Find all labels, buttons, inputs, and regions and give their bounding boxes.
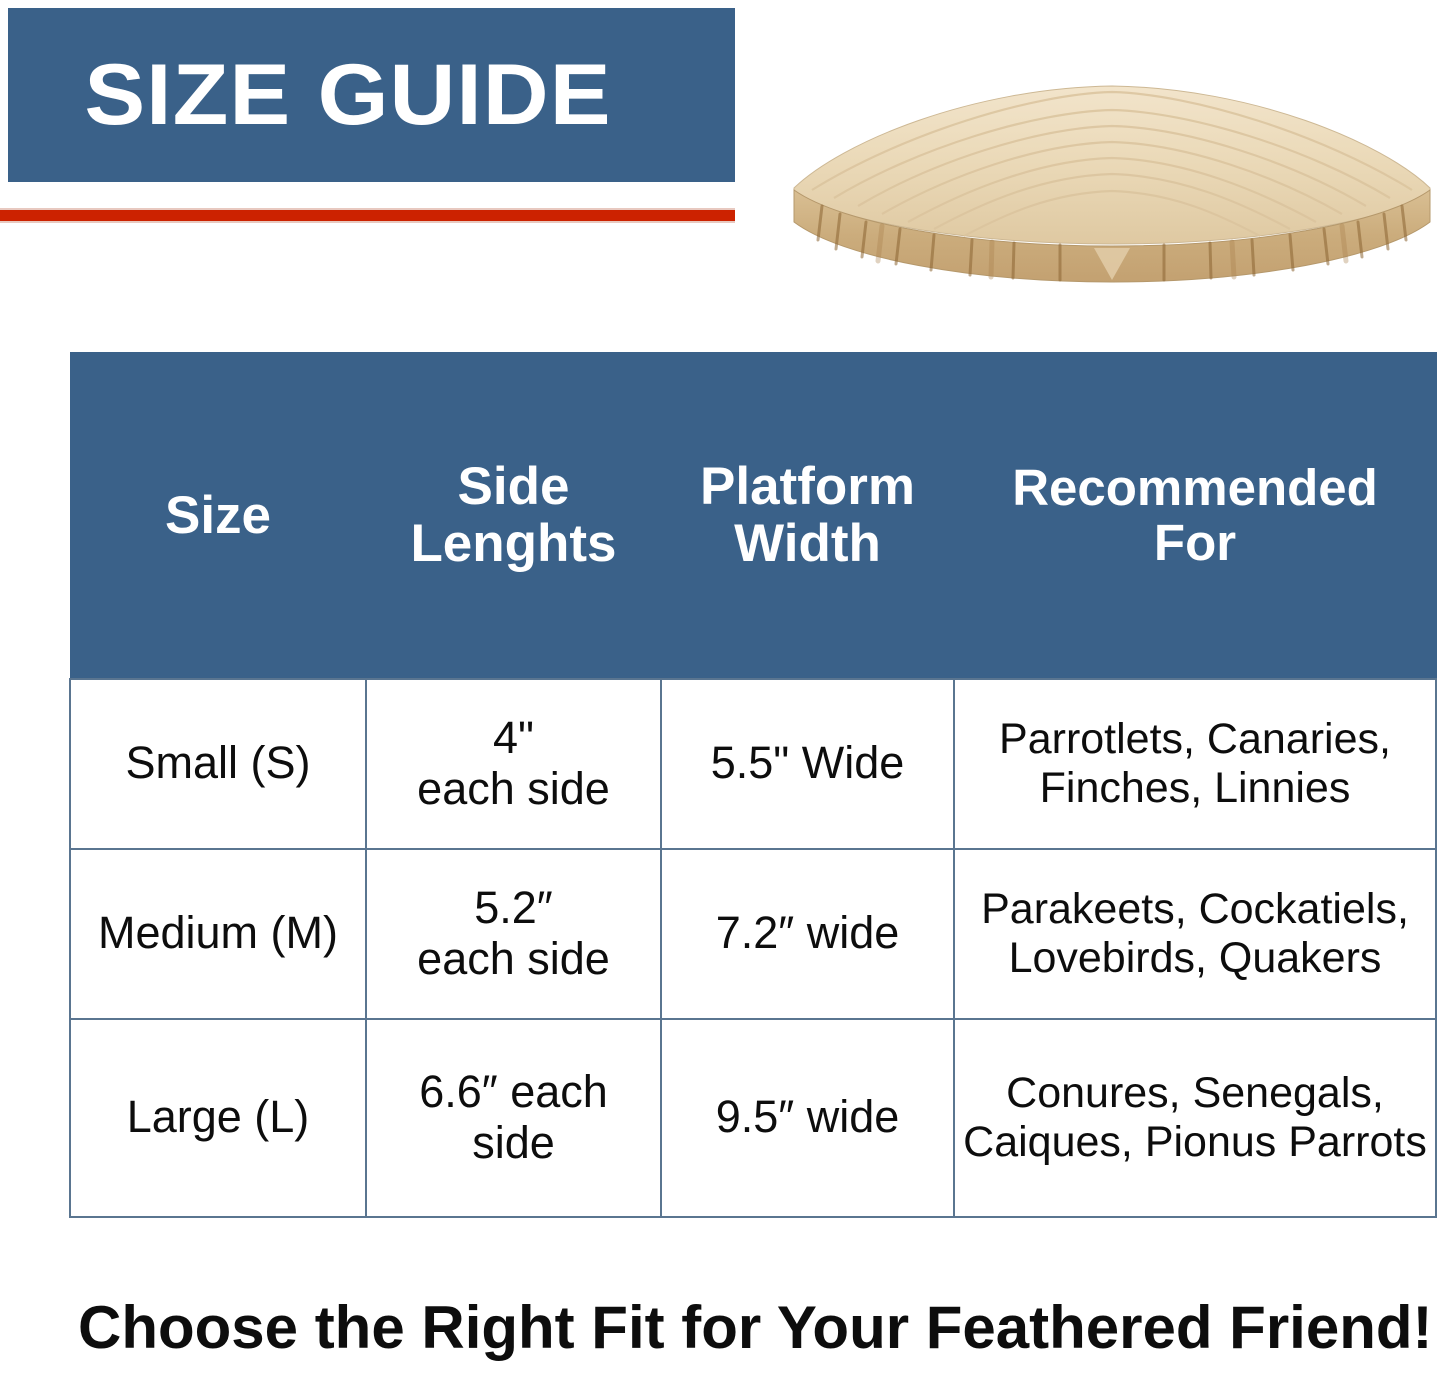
corner-shelf-product-image [782, 72, 1442, 302]
footer-tagline: Choose the Right Fit for Your Feathered … [78, 1298, 1418, 1358]
cell-side-lengths: 4"each side [366, 679, 661, 849]
cell-size: Small (S) [70, 679, 366, 849]
size-guide-infographic: SIZE GUIDE [0, 0, 1445, 1382]
column-header-size: Size [70, 353, 366, 679]
column-header-platform-width: Platform Width [661, 353, 954, 679]
cell-platform-width: 9.5″ wide [661, 1019, 954, 1217]
column-header-side-lengths: Side Lenghts [366, 353, 661, 679]
cell-side-lengths: 5.2″each side [366, 849, 661, 1019]
table-header-row: Size Side Lenghts Platform Width Recomme… [70, 353, 1436, 679]
cell-recommended-for: Conures, Senegals,Caiques, Pionus Parrot… [954, 1019, 1436, 1217]
page-title: SIZE GUIDE [8, 52, 612, 138]
cell-size: Large (L) [70, 1019, 366, 1217]
size-guide-table: Size Side Lenghts Platform Width Recomme… [69, 352, 1437, 1218]
accent-rule-divider [0, 208, 735, 223]
cell-side-lengths: 6.6″ eachside [366, 1019, 661, 1217]
cell-size: Medium (M) [70, 849, 366, 1019]
title-banner: SIZE GUIDE [8, 8, 735, 182]
cell-platform-width: 7.2″ wide [661, 849, 954, 1019]
column-header-recommended-for: Recommended For [954, 353, 1436, 679]
table-row: Large (L) 6.6″ eachside 9.5″ wide Conure… [70, 1019, 1436, 1217]
cell-platform-width: 5.5" Wide [661, 679, 954, 849]
cell-recommended-for: Parrotlets, Canaries,Finches, Linnies [954, 679, 1436, 849]
table-row: Medium (M) 5.2″each side 7.2″ wide Parak… [70, 849, 1436, 1019]
cell-recommended-for: Parakeets, Cockatiels,Lovebirds, Quakers [954, 849, 1436, 1019]
table-row: Small (S) 4"each side 5.5" Wide Parrotle… [70, 679, 1436, 849]
